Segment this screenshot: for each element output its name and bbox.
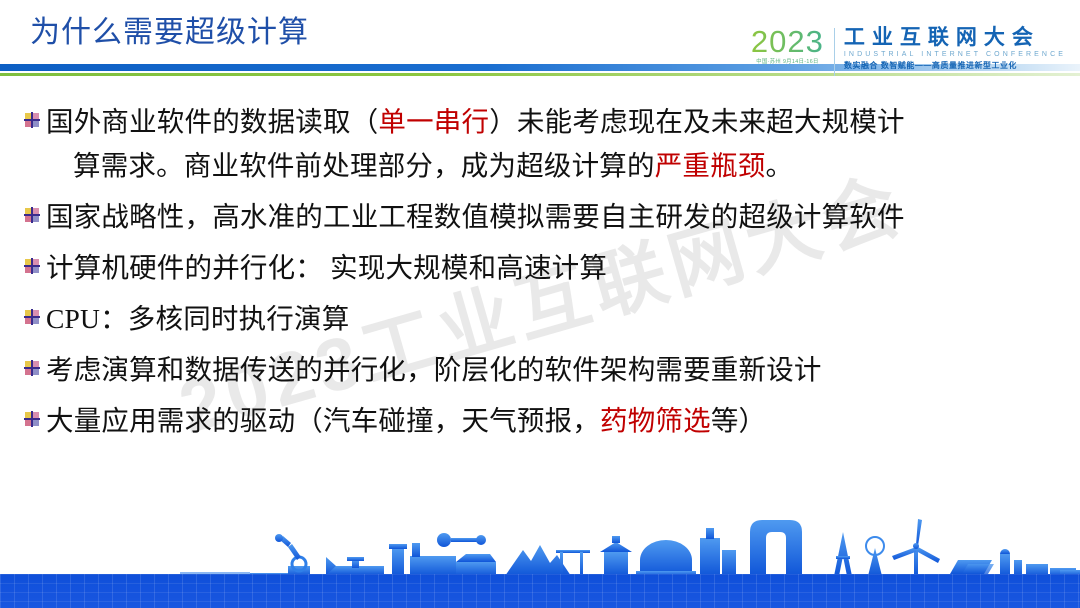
bullet-text: 国外商业软件的数据读取（单一串行）未能考虑现在及未来超大规模计算需求。商业软件前… (46, 100, 905, 188)
text-run: 国外商业软件的数据读取（ (46, 106, 378, 137)
conference-logo: 2023 中国·苏州 9月14日-16日 工业互联网大会 INDUSTRIAL … (751, 26, 1066, 78)
diamond-bullet-icon (24, 112, 39, 127)
logo-name-en: INDUSTRIAL INTERNET CONFERENCE (844, 49, 1066, 60)
text-run: 国家战略性，高水准的工业工程数值模拟需要自主研发的超级计算软件 (46, 201, 905, 232)
bullet-item: 考虑演算和数据传送的并行化，阶层化的软件架构需要重新设计 (0, 348, 1080, 392)
logo-year: 2023 (751, 26, 824, 58)
logo-divider (834, 28, 835, 76)
slide-body-bullet-list: 国外商业软件的数据读取（单一串行）未能考虑现在及未来超大规模计算需求。商业软件前… (0, 100, 1080, 520)
bullet-line: 计算机硬件的并行化： 实现大规模和高速计算 (46, 252, 607, 283)
logo-slogan: 数实融合 数智赋能——高质量推进新型工业化 (844, 60, 1064, 72)
industrial-city-skyline-icon (0, 516, 1080, 578)
logo-year-block: 2023 中国·苏州 9月14日-16日 (751, 26, 834, 67)
bullet-line: 考虑演算和数据传送的并行化，阶层化的软件架构需要重新设计 (46, 354, 822, 385)
bullet-text: 考虑演算和数据传送的并行化，阶层化的软件架构需要重新设计 (46, 348, 822, 392)
slide-footer (0, 518, 1080, 608)
text-run: 考虑演算和数据传送的并行化，阶层化的软件架构需要重新设计 (46, 354, 822, 385)
text-run: 。 (766, 150, 794, 181)
bullet-item: 国家战略性，高水准的工业工程数值模拟需要自主研发的超级计算软件 (0, 195, 1080, 239)
text-run: 大量应用需求的驱动（汽车碰撞，天气预报， (46, 405, 600, 436)
logo-name-block: 工业互联网大会 INDUSTRIAL INTERNET CONFERENCE 数… (844, 26, 1066, 72)
bullet-item: 计算机硬件的并行化： 实现大规模和高速计算 (0, 246, 1080, 290)
bullet-text: 大量应用需求的驱动（汽车碰撞，天气预报，药物筛选等） (46, 399, 766, 443)
presentation-slide: 为什么需要超级计算 2023 中国·苏州 9月14日-16日 工业互联网大会 I… (0, 0, 1080, 608)
bullet-item: 国外商业软件的数据读取（单一串行）未能考虑现在及未来超大规模计算需求。商业软件前… (0, 100, 1080, 188)
bullet-line: CPU：多核同时执行演算 (46, 303, 349, 334)
logo-year-subtitle: 中国·苏州 9月14日-16日 (756, 58, 818, 67)
bullet-text: CPU：多核同时执行演算 (46, 297, 349, 341)
bullet-item: 大量应用需求的驱动（汽车碰撞，天气预报，药物筛选等） (0, 399, 1080, 443)
bullet-line: 算需求。商业软件前处理部分，成为超级计算的严重瓶颈。 (46, 144, 905, 188)
bullet-item: CPU：多核同时执行演算 (0, 297, 1080, 341)
text-run: ）未能考虑现在及未来超大规模计 (489, 106, 905, 137)
bullet-text: 国家战略性，高水准的工业工程数值模拟需要自主研发的超级计算软件 (46, 195, 905, 239)
diamond-bullet-icon (24, 258, 39, 273)
highlighted-term: 药物筛选 (600, 405, 711, 436)
text-run: CPU：多核同时执行演算 (46, 303, 349, 334)
diamond-bullet-icon (24, 207, 39, 222)
bullet-line: 国外商业软件的数据读取（单一串行）未能考虑现在及未来超大规模计 (46, 106, 905, 137)
highlighted-term: 单一串行 (378, 106, 489, 137)
slide-header: 为什么需要超级计算 2023 中国·苏州 9月14日-16日 工业互联网大会 I… (0, 0, 1080, 96)
page-title: 为什么需要超级计算 (30, 14, 309, 52)
footer-grid-band (0, 574, 1080, 608)
diamond-bullet-icon (24, 360, 39, 375)
logo-name-cn: 工业互联网大会 (844, 26, 1066, 49)
text-run: 算需求。商业软件前处理部分，成为超级计算的 (73, 150, 655, 181)
bullet-line: 大量应用需求的驱动（汽车碰撞，天气预报，药物筛选等） (46, 405, 766, 436)
text-run: 等） (711, 405, 766, 436)
bullet-line: 国家战略性，高水准的工业工程数值模拟需要自主研发的超级计算软件 (46, 201, 905, 232)
highlighted-term: 严重瓶颈 (655, 150, 766, 181)
diamond-bullet-icon (24, 309, 39, 324)
bullet-text: 计算机硬件的并行化： 实现大规模和高速计算 (46, 246, 607, 290)
text-run: 计算机硬件的并行化： 实现大规模和高速计算 (46, 252, 607, 283)
diamond-bullet-icon (24, 411, 39, 426)
